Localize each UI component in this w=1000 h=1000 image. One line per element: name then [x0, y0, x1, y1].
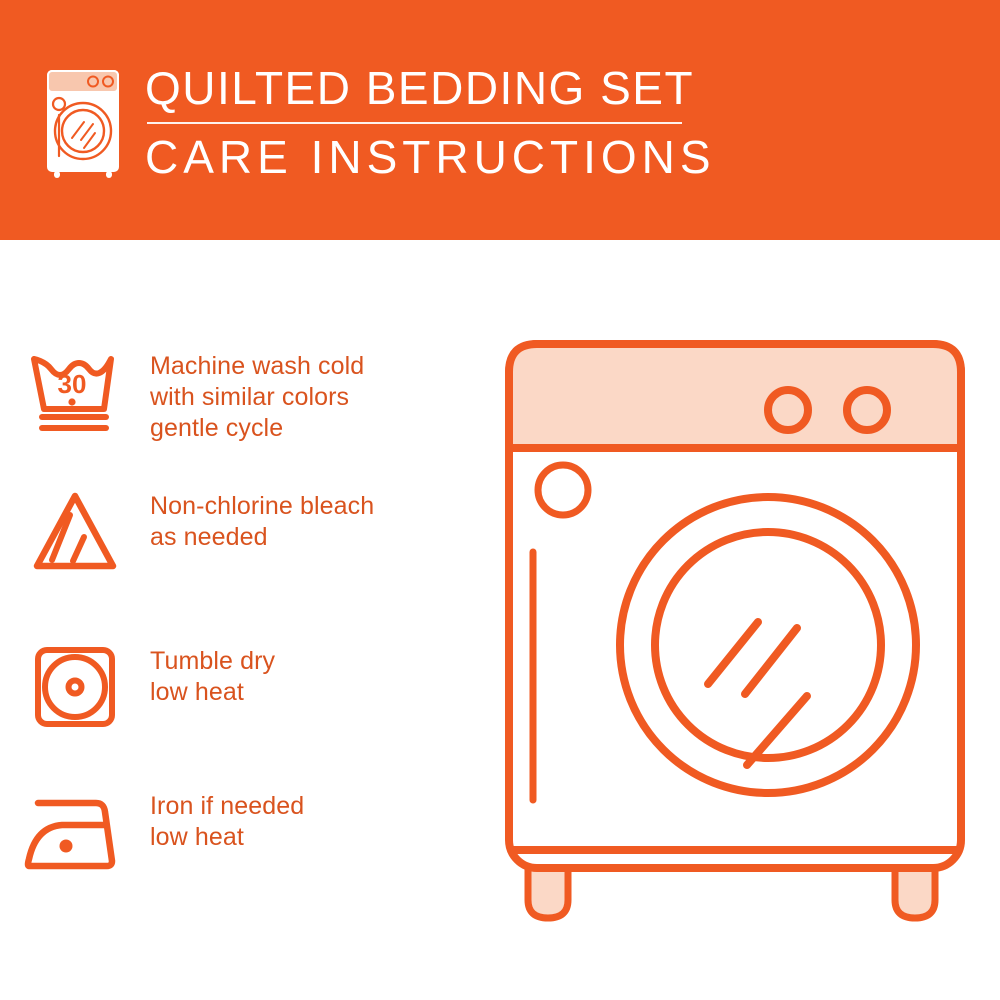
page-title: QUILTED BEDDING SET: [145, 62, 845, 114]
iron-icon: [0, 785, 150, 877]
wash-temperature-label: 30: [58, 369, 87, 399]
care-item-bleach: Non-chlorine bleach as needed: [0, 485, 500, 577]
care-item-wash: 30 Machine wash cold with similar colors…: [0, 345, 500, 444]
care-text-line: low heat: [150, 677, 275, 708]
washing-machine-illustration: [495, 330, 975, 940]
care-instructions-page: QUILTED BEDDING SET CARE INSTRUCTIONS 30…: [0, 0, 1000, 1000]
header-text-block: QUILTED BEDDING SET CARE INSTRUCTIONS: [145, 62, 845, 184]
care-item-iron-text: Iron if needed low heat: [150, 785, 304, 853]
care-text-line: with similar colors: [150, 382, 364, 413]
knob-right: [847, 390, 887, 430]
care-text-line: Machine wash cold: [150, 351, 364, 382]
bleach-triangle-icon: [0, 485, 150, 577]
care-item-bleach-text: Non-chlorine bleach as needed: [150, 485, 374, 553]
care-item-tumble-dry-text: Tumble dry low heat: [150, 640, 275, 708]
title-divider: [147, 122, 682, 124]
knob-left: [768, 390, 808, 430]
page-subtitle: CARE INSTRUCTIONS: [145, 130, 845, 184]
care-text-line: Tumble dry: [150, 646, 275, 677]
care-text-line: Iron if needed: [150, 791, 304, 822]
care-item-iron: Iron if needed low heat: [0, 785, 500, 877]
care-text-line: gentle cycle: [150, 413, 364, 444]
wash-tub-icon: 30: [0, 345, 150, 437]
care-text-line: as needed: [150, 522, 374, 553]
header-banner: QUILTED BEDDING SET CARE INSTRUCTIONS: [0, 0, 1000, 240]
washing-machine-icon: [45, 68, 121, 180]
care-text-line: Non-chlorine bleach: [150, 491, 374, 522]
care-item-tumble-dry: Tumble dry low heat: [0, 640, 500, 732]
care-text-line: low heat: [150, 822, 304, 853]
tumble-dry-icon: [0, 640, 150, 732]
care-item-wash-text: Machine wash cold with similar colors ge…: [150, 345, 364, 444]
care-symbol-list: 30 Machine wash cold with similar colors…: [0, 240, 500, 1000]
